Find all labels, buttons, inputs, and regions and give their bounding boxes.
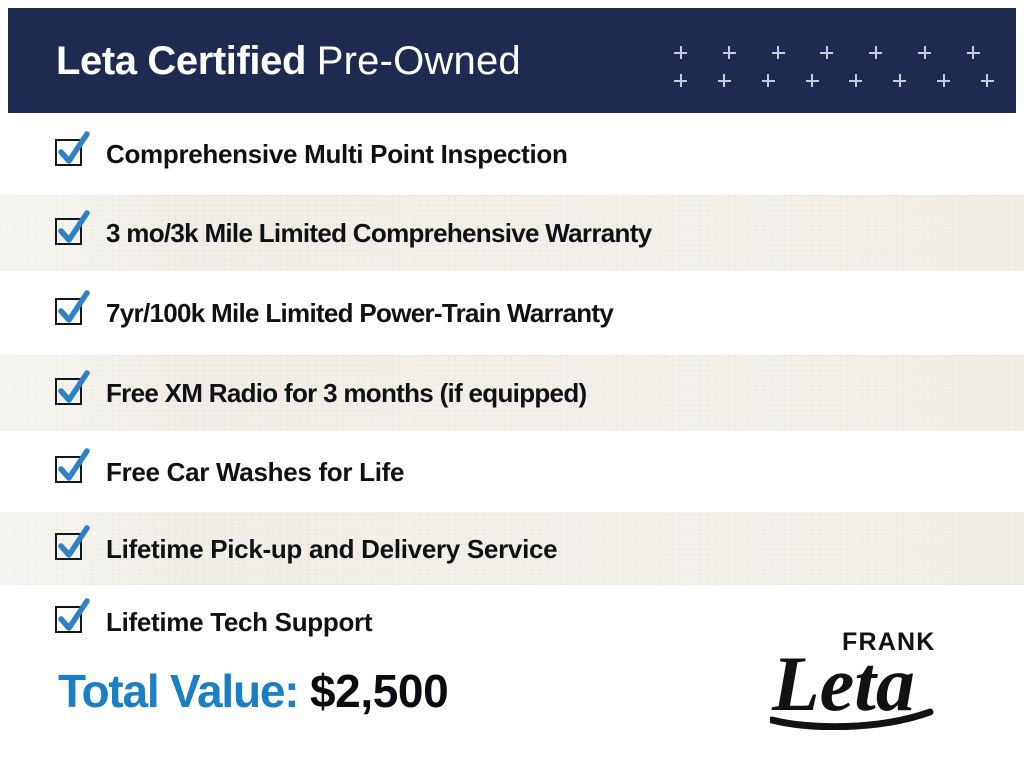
plus-row-top xyxy=(674,46,994,62)
plus-icon xyxy=(893,74,906,87)
checkmark-icon xyxy=(56,132,90,168)
plus-icon xyxy=(981,74,994,87)
benefit-row-content: Comprehensive Multi Point Inspection xyxy=(0,139,568,170)
page-title-strong: Leta Certified xyxy=(56,39,306,83)
checkbox-checked[interactable] xyxy=(55,218,86,249)
total-value-label: Total Value: xyxy=(58,665,298,717)
plus-icon xyxy=(806,74,819,87)
certified-pre-owned-flyer: Leta Certified Pre-Owned xyxy=(0,0,1024,768)
checkbox-checked[interactable] xyxy=(55,139,86,170)
plus-icon xyxy=(674,46,687,59)
benefit-label: 7yr/100k Mile Limited Power-Train Warran… xyxy=(106,300,613,326)
benefit-row-content: Lifetime Pick-up and Delivery Service xyxy=(0,533,557,564)
svg-text:Leta: Leta xyxy=(771,642,915,727)
total-value-amount: $2,500 xyxy=(310,665,448,717)
benefit-label: Lifetime Tech Support xyxy=(106,609,372,635)
plus-pattern-decoration xyxy=(674,46,994,98)
plus-icon xyxy=(723,46,736,59)
benefit-row: Comprehensive Multi Point Inspection xyxy=(0,113,1024,195)
benefit-label: Free Car Washes for Life xyxy=(106,459,404,485)
plus-row-bottom xyxy=(674,74,994,90)
plus-icon xyxy=(869,46,882,59)
benefit-row: Lifetime Pick-up and Delivery Service xyxy=(0,512,1024,585)
benefit-row: 7yr/100k Mile Limited Power-Train Warran… xyxy=(0,271,1024,355)
page-title-light: Pre-Owned xyxy=(317,39,521,83)
checkmark-icon xyxy=(56,291,90,327)
benefit-label: Lifetime Pick-up and Delivery Service xyxy=(106,536,557,562)
checkmark-icon xyxy=(56,211,90,247)
page-title: Leta Certified Pre-Owned xyxy=(56,41,521,81)
checkbox-checked[interactable] xyxy=(55,533,86,564)
plus-icon xyxy=(762,74,775,87)
plus-icon xyxy=(849,74,862,87)
benefit-row-content: Free XM Radio for 3 months (if equipped) xyxy=(0,378,586,409)
benefit-row-content: 7yr/100k Mile Limited Power-Train Warran… xyxy=(0,298,613,329)
checkmark-icon xyxy=(56,449,90,485)
checkmark-icon xyxy=(56,371,90,407)
benefits-list: Comprehensive Multi Point Inspection3 mo… xyxy=(0,113,1024,658)
checkbox-checked[interactable] xyxy=(55,298,86,329)
plus-icon xyxy=(674,74,687,87)
checkbox-checked[interactable] xyxy=(55,606,86,637)
benefit-row: Free XM Radio for 3 months (if equipped) xyxy=(0,355,1024,431)
checkbox-checked[interactable] xyxy=(55,378,86,409)
plus-icon xyxy=(718,74,731,87)
checkmark-icon xyxy=(56,599,90,635)
benefit-label: 3 mo/3k Mile Limited Comprehensive Warra… xyxy=(106,220,651,246)
benefit-row-content: Lifetime Tech Support xyxy=(0,606,372,637)
checkmark-icon xyxy=(56,526,90,562)
plus-icon xyxy=(820,46,833,59)
plus-icon xyxy=(918,46,931,59)
benefit-row-content: Free Car Washes for Life xyxy=(0,456,404,487)
header-banner: Leta Certified Pre-Owned xyxy=(8,8,1016,113)
benefit-label: Free XM Radio for 3 months (if equipped) xyxy=(106,380,586,406)
benefit-row-content: 3 mo/3k Mile Limited Comprehensive Warra… xyxy=(0,218,651,249)
plus-icon xyxy=(937,74,950,87)
benefit-label: Comprehensive Multi Point Inspection xyxy=(106,141,568,167)
plus-icon xyxy=(967,46,980,59)
frank-leta-logo: FRANK Leta xyxy=(770,624,960,734)
logo-leta-script: Leta xyxy=(770,642,960,730)
benefit-row: 3 mo/3k Mile Limited Comprehensive Warra… xyxy=(0,195,1024,271)
checkbox-checked[interactable] xyxy=(55,456,86,487)
total-value-line: Total Value: $2,500 xyxy=(58,668,448,714)
benefit-row: Free Car Washes for Life xyxy=(0,431,1024,512)
plus-icon xyxy=(772,46,785,59)
